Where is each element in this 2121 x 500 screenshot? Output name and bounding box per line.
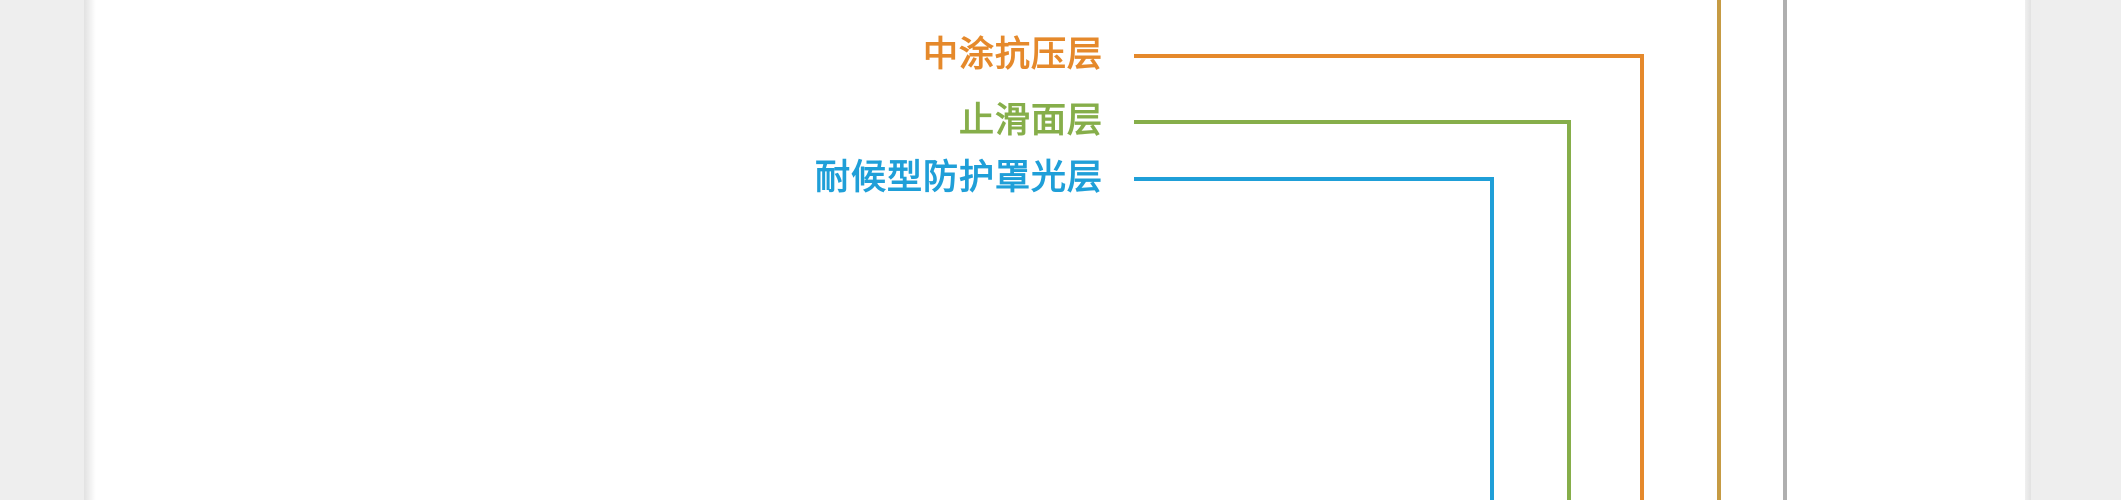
leader-line-vertical-orange [1640, 54, 1644, 500]
leader-line-vertical-blue [1490, 177, 1494, 500]
document-page [96, 0, 2025, 500]
leader-line-horizontal-green [1134, 120, 1571, 124]
leader-line-horizontal-blue [1134, 177, 1494, 181]
screenshot-root: 耐磨层 中涂抗压层 止滑面层 耐候型防护罩光层 [0, 0, 2121, 500]
page-gutter-right [2025, 0, 2121, 500]
leader-line-vertical-gray [1783, 0, 1787, 500]
callout-label-weather-resistant-shield: 耐候型防护罩光层 [815, 160, 1103, 195]
leader-line-vertical-goldenrod [1717, 0, 1721, 500]
callout-label-anti-slip-surface: 止滑面层 [959, 103, 1103, 138]
leader-line-vertical-green [1567, 120, 1571, 500]
leader-line-horizontal-orange [1134, 54, 1644, 58]
callout-label-mid-press-layer: 中涂抗压层 [923, 37, 1103, 72]
page-gutter-left [0, 0, 90, 500]
page-edge-shadow-left [84, 0, 96, 500]
